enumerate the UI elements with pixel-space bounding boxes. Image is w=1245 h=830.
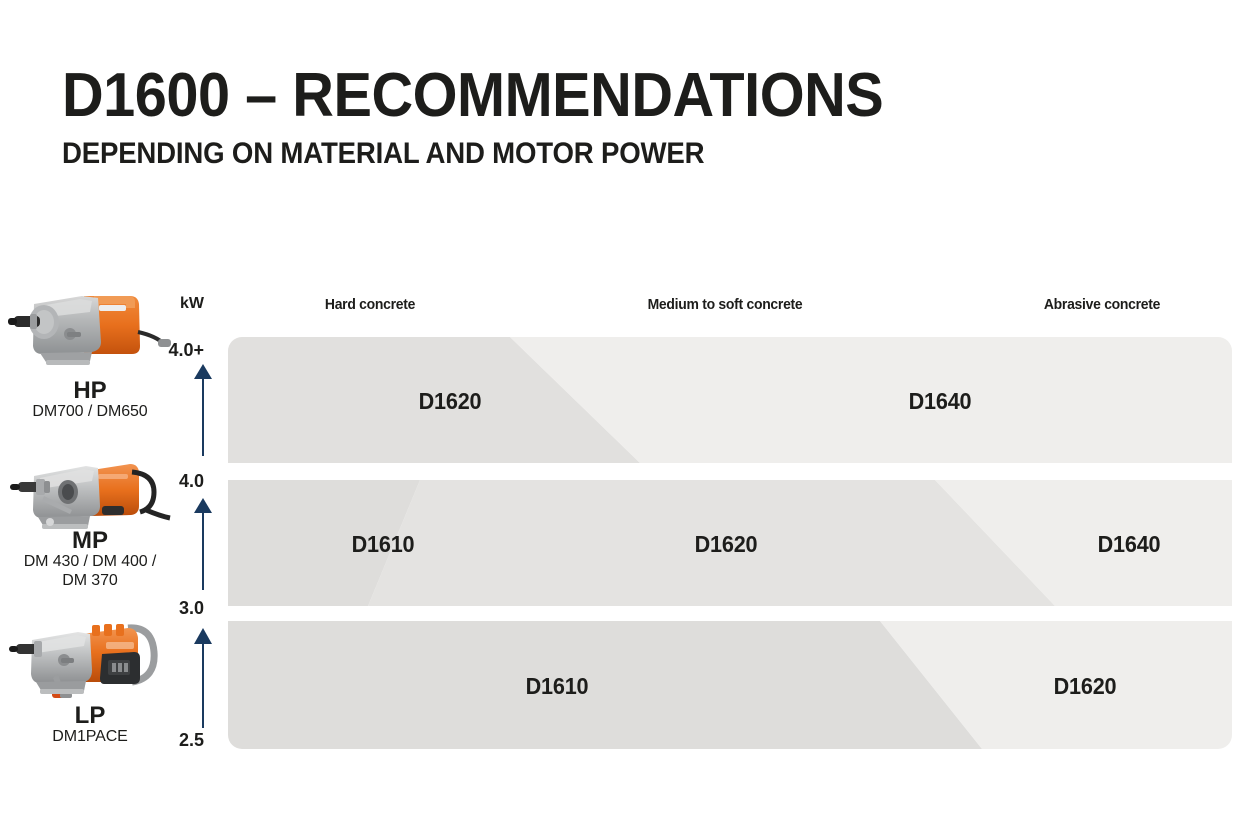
- machine-caption-hp: HP DM700 / DM650: [0, 378, 180, 422]
- machine-models-mp-line1: DM 430 / DM 400 /: [0, 553, 180, 571]
- column-header-hard-concrete: Hard concrete: [277, 296, 463, 313]
- recommendation-row-mp: D1610 D1620 D1640: [228, 480, 1232, 606]
- column-header-abrasive-concrete: Abrasive concrete: [1009, 296, 1195, 313]
- machine-code-mp: MP: [0, 528, 180, 553]
- arrow-up-icon: [193, 364, 213, 456]
- page-title: D1600 – RECOMMENDATIONS: [62, 66, 883, 127]
- column-header-medium-soft-concrete: Medium to soft concrete: [632, 296, 818, 313]
- machine-models-mp-line2: DM 370: [0, 572, 180, 590]
- band-segment-fill: [228, 621, 982, 749]
- title-block: D1600 – RECOMMENDATIONS DEPENDING ON MAT…: [62, 66, 945, 169]
- recommendation-row-hp: D1620 D1640: [228, 337, 1232, 463]
- axis-tick-4-0: 4.0: [179, 471, 204, 492]
- machine-caption-mp: MP DM 430 / DM 400 / DM 370: [0, 528, 180, 590]
- slide-canvas: D1600 – RECOMMENDATIONS DEPENDING ON MAT…: [0, 0, 1245, 830]
- machine-code-lp: LP: [0, 703, 180, 728]
- machine-photo-hp: [6, 282, 174, 378]
- arrow-up-icon: [193, 498, 213, 590]
- band-segment-fill: [368, 480, 1055, 606]
- machine-photo-lp: [6, 612, 174, 708]
- axis-unit-label: kW: [180, 295, 204, 313]
- machine-caption-lp: LP DM1PACE: [0, 703, 180, 747]
- machine-code-hp: HP: [0, 378, 180, 403]
- arrow-up-icon: [193, 628, 213, 728]
- page-subtitle: DEPENDING ON MATERIAL AND MOTOR POWER: [62, 139, 874, 169]
- machine-models-lp: DM1PACE: [0, 728, 180, 746]
- recommendation-row-lp: D1610 D1620: [228, 621, 1232, 749]
- axis-tick-3-0: 3.0: [179, 598, 204, 619]
- machine-models-hp: DM700 / DM650: [0, 403, 180, 421]
- axis-tick-2-5: 2.5: [179, 730, 204, 751]
